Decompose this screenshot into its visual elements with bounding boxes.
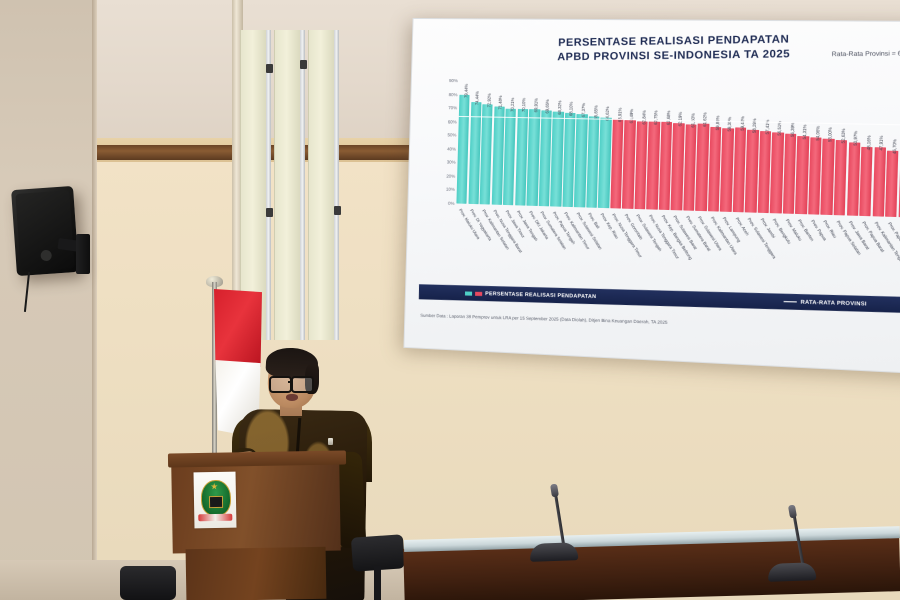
podium-emblem [194, 472, 237, 529]
bar-value-label: 71,48% [498, 96, 503, 110]
bar-value-label: 52,63% [840, 128, 846, 143]
bar [846, 142, 860, 216]
eyeglasses-left-lens [269, 376, 292, 393]
bar-value-label: 67,37% [581, 103, 587, 117]
bar-value-label: 62,75% [653, 110, 659, 124]
bar [527, 109, 540, 206]
bar-value-label: 72,92% [486, 93, 491, 107]
y-axis-tick: 40% [447, 146, 456, 151]
y-axis-tick: 30% [447, 160, 456, 165]
y-axis: 90%80%70%60%50%40%30%20%10%0% [433, 80, 458, 203]
legend-swatch-line [784, 301, 797, 303]
office-chair-back-2 [120, 566, 176, 600]
bar-value-label: 79,44% [463, 84, 468, 98]
wall-corner [92, 0, 97, 600]
bar [758, 131, 772, 213]
bar [503, 109, 516, 206]
bar [783, 133, 797, 214]
eyeglasses-right-lens [291, 376, 314, 393]
bar [872, 147, 886, 216]
bar [550, 112, 563, 207]
bar-value-label: 62,19% [677, 112, 683, 127]
bar [720, 128, 734, 212]
bar-value-label: 65,65% [593, 105, 599, 119]
y-axis-tick: 80% [449, 92, 458, 97]
bar [821, 139, 835, 215]
bar [683, 124, 697, 211]
bar-value-label: 70,21% [510, 98, 515, 112]
microphone-base-2 [768, 562, 817, 582]
bar [859, 147, 873, 217]
speaker-name-tag [328, 438, 333, 445]
bar-value-label: 56,39% [789, 122, 795, 137]
bar-value-label: 59,86% [714, 115, 720, 130]
average-annotation: Rata-Rata Provinsi = 63,94% [832, 50, 900, 58]
bar-value-label: 45,70% [891, 139, 897, 154]
bar [745, 130, 759, 213]
legend-series: PERSENTASE REALISASI PENDAPATAN [465, 290, 596, 300]
office-chair-stem [374, 566, 381, 600]
plot-area: 79,44%74,44%72,92%71,48%70,21%70,10%69,9… [456, 81, 900, 218]
bar [695, 124, 709, 211]
bar-value-label: 59,30% [727, 117, 733, 132]
bar [708, 127, 722, 212]
emblem-ribbon [198, 514, 232, 522]
eyeglasses-bridge [288, 381, 292, 383]
microphone-base-1 [530, 542, 579, 562]
legend-average: RATA-RATA PROVINSI [784, 298, 867, 307]
legend-swatch-red [475, 291, 482, 295]
bar-value-label: 68,10% [569, 101, 575, 115]
y-axis-tick: 0% [448, 201, 455, 206]
bar-value-label: 54,06% [815, 126, 821, 141]
bar-value-label: 48,16% [866, 135, 872, 150]
projection-screen: PERSENTASE REALISASI PENDAPATAN APBD PRO… [403, 18, 900, 374]
bar [770, 133, 784, 214]
bar [598, 118, 611, 208]
legend-average-label: RATA-RATA PROVINSI [801, 299, 867, 307]
bar-value-label: 56,51% [777, 121, 783, 136]
bar-value-label: 68,32% [557, 101, 563, 115]
bar-value-label: 74,44% [475, 91, 480, 105]
bar [646, 122, 660, 210]
speaker-wall-mount [76, 234, 90, 274]
left-wall-panel [0, 0, 92, 600]
bar-value-label: 62,68% [665, 111, 671, 125]
y-axis-tick: 60% [448, 119, 457, 124]
legend-swatch-teal [465, 291, 472, 295]
bar [834, 140, 848, 216]
chart-legend: PERSENTASE REALISASI PENDAPATAN RATA-RAT… [419, 284, 900, 313]
bar [480, 104, 493, 204]
y-axis-tick: 10% [446, 187, 455, 192]
bar [456, 95, 470, 204]
bar-value-label: 59,42% [739, 117, 745, 132]
bar-value-label: 69,91% [533, 98, 539, 112]
slide-title: PERSENTASE REALISASI PENDAPATAN APBD PRO… [500, 31, 852, 65]
bar [671, 123, 685, 211]
loudspeaker-icon [11, 186, 79, 276]
bar [659, 122, 673, 210]
bar [634, 121, 648, 209]
y-axis-tick: 90% [449, 78, 458, 83]
legend-series-label: PERSENTASE REALISASI PENDAPATAN [485, 290, 596, 299]
bar [733, 128, 747, 212]
bar-value-label: 70,10% [521, 98, 527, 112]
bar-value-label: 58,29% [752, 118, 758, 133]
y-axis-tick: 70% [448, 105, 457, 110]
slide-source-note: Sumber Data : Laporan 38 Pemprov untuk L… [420, 313, 667, 325]
bar-value-label: 62,84% [641, 110, 647, 124]
bar-value-label: 50,97% [853, 131, 859, 146]
bar-value-label: 47,91% [878, 136, 884, 151]
bar [885, 151, 899, 217]
presentation-room-photo: PERSENTASE REALISASI PENDAPATAN APBD PRO… [0, 0, 900, 600]
bar [610, 119, 623, 208]
speaker-mouth [286, 394, 298, 401]
bar-value-label: 53,00% [827, 127, 833, 142]
chart-plot: 90%80%70%60%50%40%30%20%10%0% 79,44%74,4… [432, 80, 900, 258]
bar [808, 137, 822, 215]
bar-value-label: 63,49% [629, 109, 635, 123]
bar [795, 136, 809, 214]
emblem-center-icon [209, 496, 223, 508]
y-axis-tick: 50% [447, 133, 456, 138]
bar-value-label: 54,31% [802, 125, 808, 140]
podium-base [186, 547, 327, 600]
flag-red-band [214, 289, 262, 367]
y-axis-tick: 20% [446, 173, 455, 178]
bar-value-label: 69,65% [545, 99, 551, 113]
bar [622, 120, 635, 209]
bar [574, 114, 587, 208]
